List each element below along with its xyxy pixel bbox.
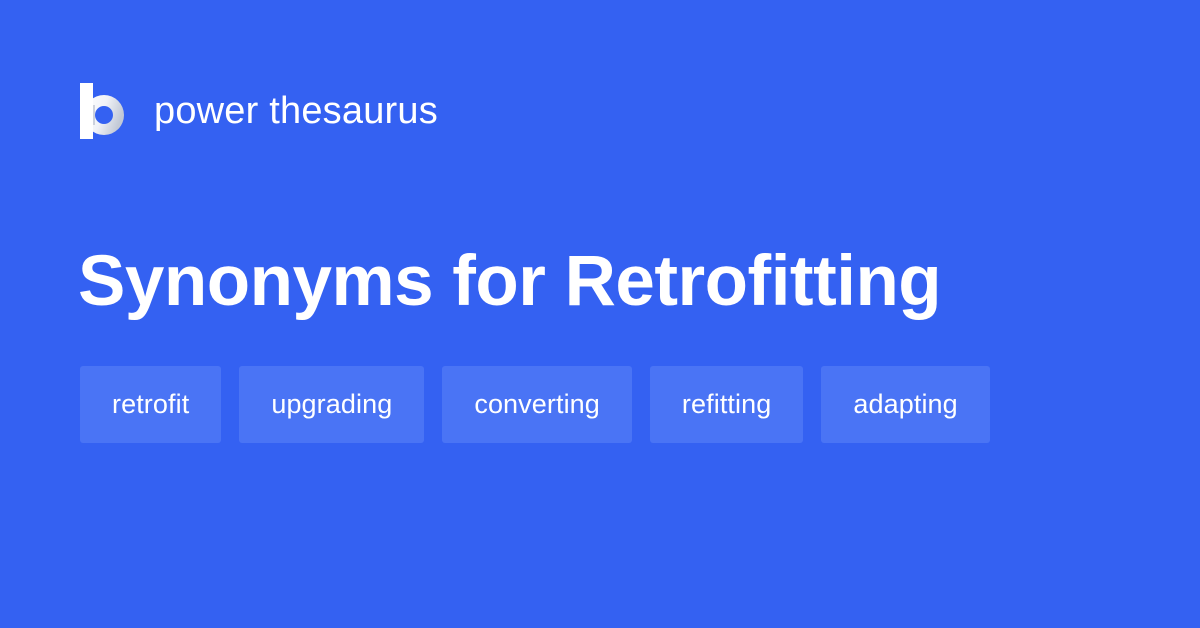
synonyms-card: power thesaurus Synonyms for Retrofittin… (0, 0, 1200, 628)
synonym-chip[interactable]: upgrading (239, 366, 424, 443)
synonym-chip-list: retrofit upgrading converting refitting … (80, 366, 1120, 443)
synonym-chip[interactable]: converting (442, 366, 632, 443)
brand-header[interactable]: power thesaurus (80, 82, 438, 140)
synonym-chip[interactable]: retrofit (80, 366, 221, 443)
synonym-chip[interactable]: adapting (821, 366, 989, 443)
brand-name: power thesaurus (154, 92, 438, 130)
synonym-chip[interactable]: refitting (650, 366, 803, 443)
page-title: Synonyms for Retrofitting (78, 244, 1138, 321)
power-thesaurus-b-logo-icon (80, 83, 132, 139)
